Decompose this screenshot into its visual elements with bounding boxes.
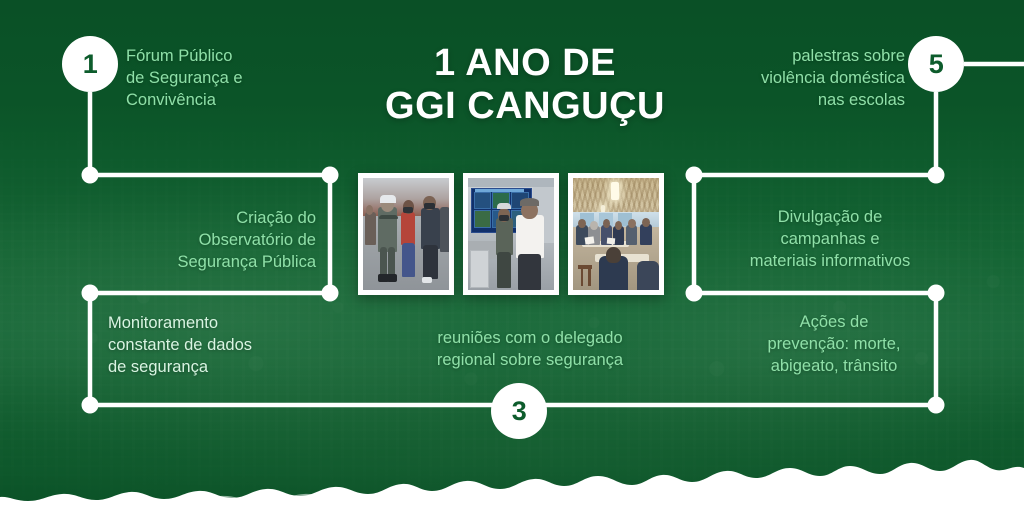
item-forum-label: Fórum Público de Segurança e Convivência — [126, 46, 306, 112]
node-mid-inner-right — [686, 285, 703, 302]
torn-paper-edge — [0, 416, 1024, 512]
title-line-2: GGI CANGUÇU — [330, 85, 720, 128]
badge-1: 1 — [62, 36, 118, 92]
badge-1-number: 1 — [83, 49, 98, 80]
node-bottom-right — [928, 397, 945, 414]
node-mid-left — [82, 285, 99, 302]
node-top-inner-right — [686, 167, 703, 184]
photo-abordagem-scene — [363, 178, 449, 290]
photo-monitoramento-scene — [468, 178, 554, 290]
item-prevencao-label: Ações de prevenção: morte, abigeato, trâ… — [728, 312, 940, 378]
node-top-inner-left — [322, 167, 339, 184]
node-top-left — [82, 167, 99, 184]
photo-reuniao-scene — [573, 178, 659, 290]
node-mid-right — [928, 285, 945, 302]
badge-5-number: 5 — [929, 49, 944, 80]
infographic-poster: 1 5 3 1 ANO DE GGI CANGUÇU Fórum Público… — [0, 0, 1024, 512]
item-palestras-label: palestras sobre violência doméstica nas … — [700, 46, 905, 112]
item-divulgacao-label: Divulgação de campanhas e materiais info… — [700, 207, 960, 273]
item-observatorio-label: Criação do Observatório de Segurança Púb… — [118, 208, 316, 274]
poster-title: 1 ANO DE GGI CANGUÇU — [330, 42, 720, 127]
title-line-1: 1 ANO DE — [434, 42, 616, 84]
photo-reuniao — [568, 173, 664, 295]
node-top-right — [928, 167, 945, 184]
photo-monitoramento — [463, 173, 559, 295]
node-mid-inner-left — [322, 285, 339, 302]
photo-abordagem — [358, 173, 454, 295]
item-monitoramento-label: Monitoramento constante de dados de segu… — [108, 313, 318, 379]
item-reunioes-label: reuniões com o delegado regional sobre s… — [392, 328, 668, 372]
badge-5: 5 — [908, 36, 964, 92]
node-bottom-left — [82, 397, 99, 414]
